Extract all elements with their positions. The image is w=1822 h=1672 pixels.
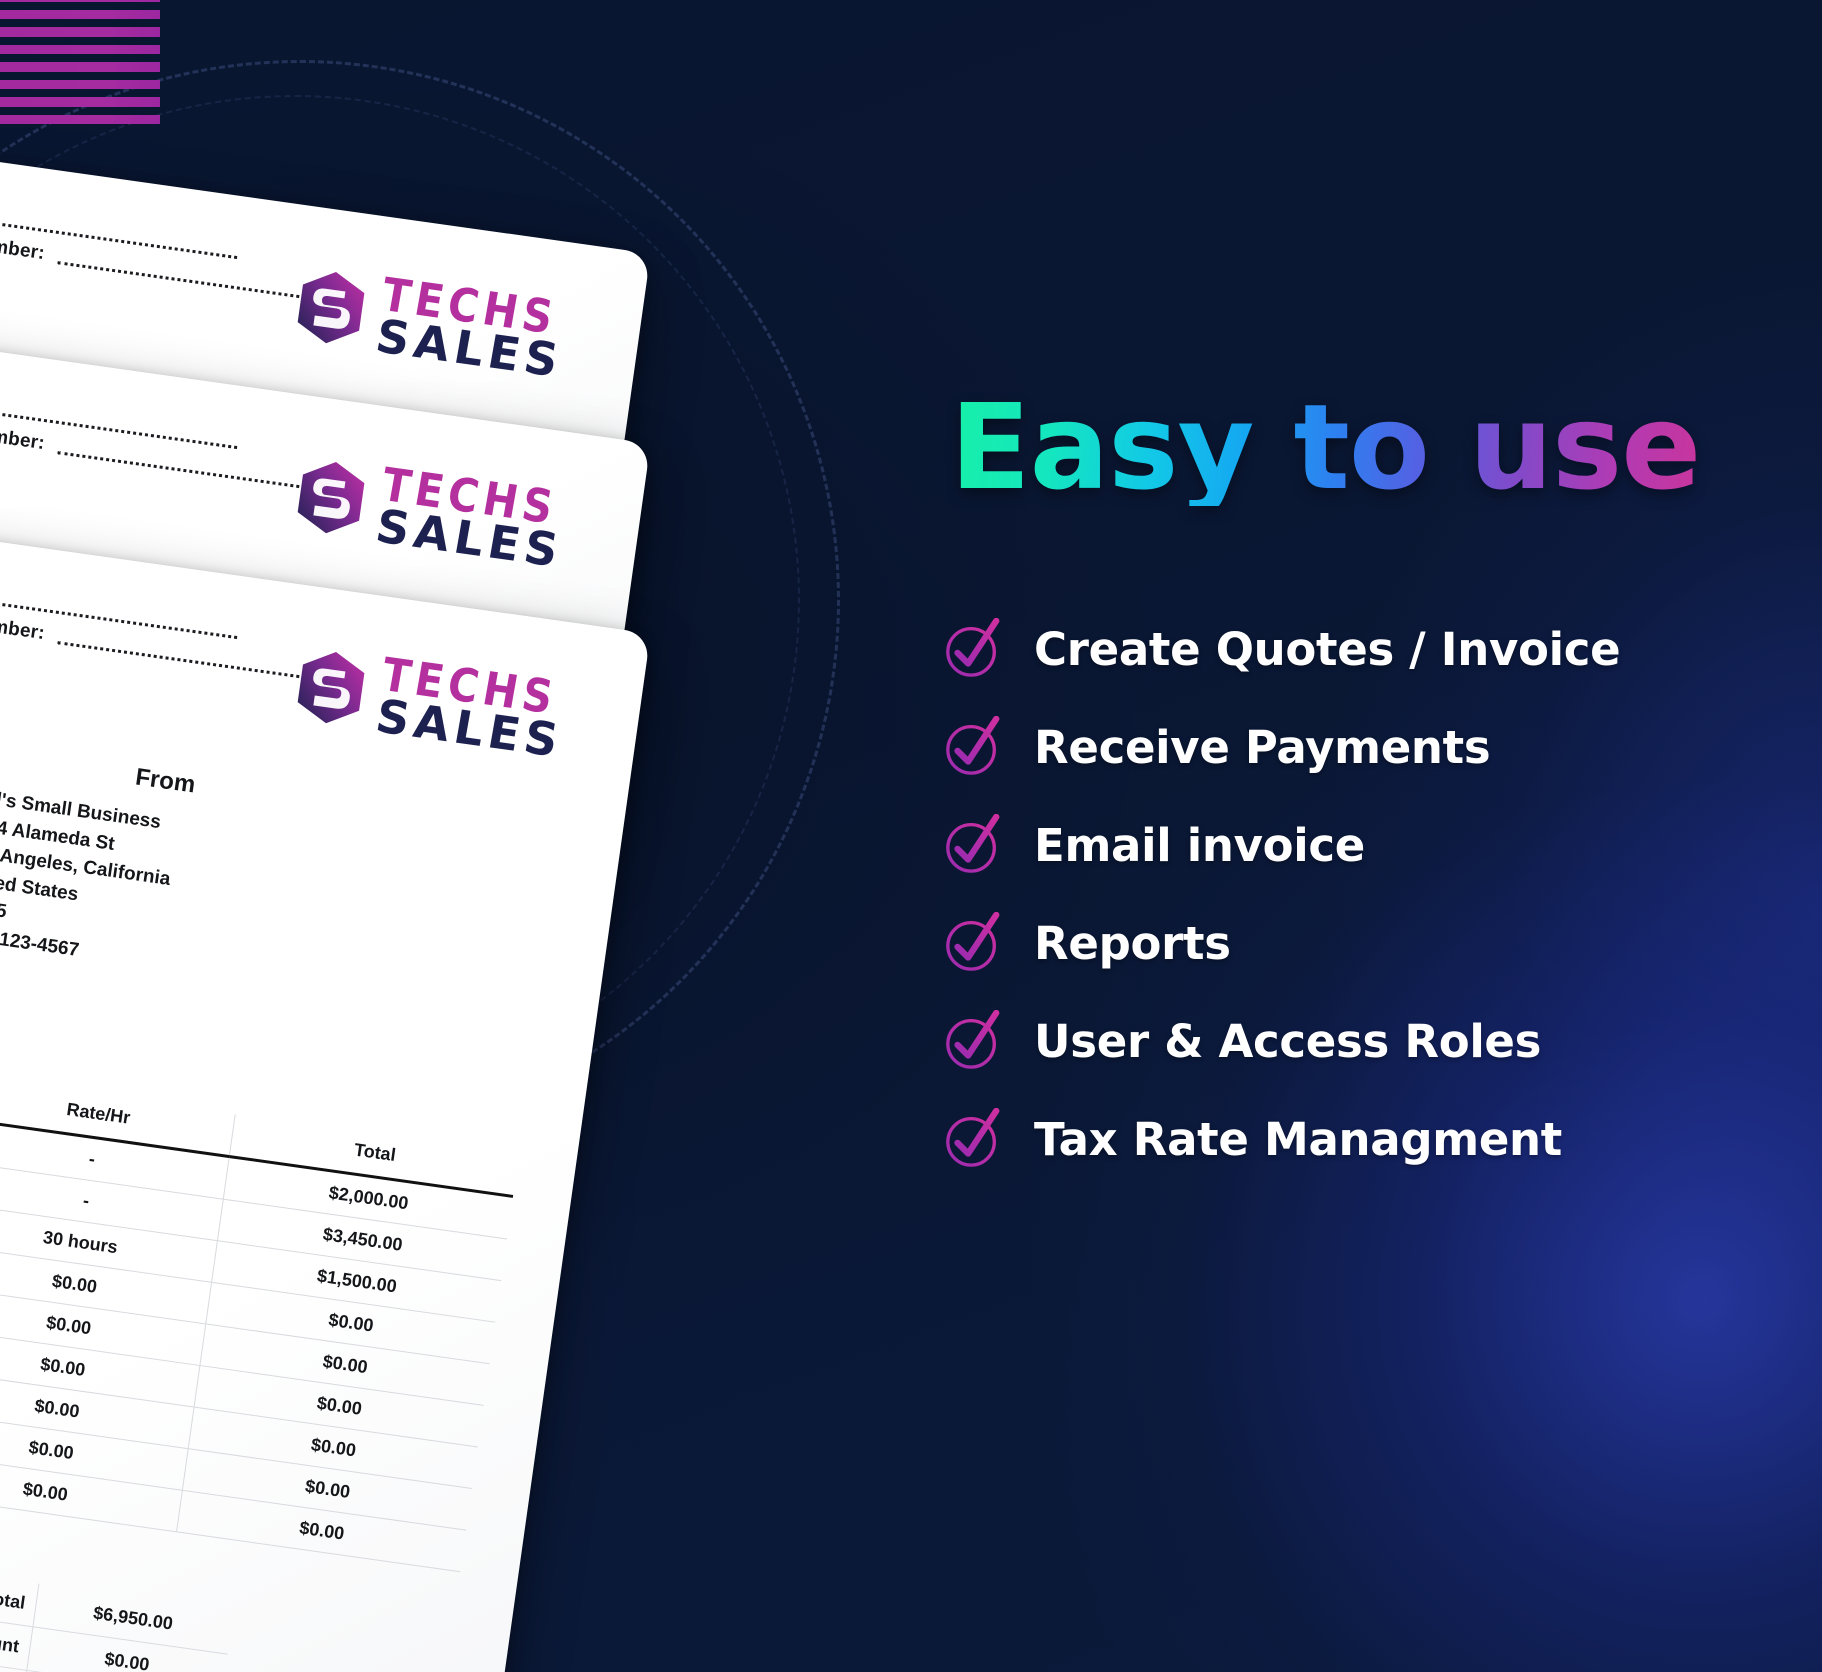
check-circle-icon xyxy=(942,1108,1004,1170)
line-items-table: Unit CostRate/HrTotal $2,000.00-$2,000.0… xyxy=(0,1037,519,1572)
invoice-card-front: Date: Invoice Number: Bill To Chrysler 1… xyxy=(0,500,651,1672)
check-circle-icon xyxy=(942,814,1004,876)
page-title: Easy to use xyxy=(950,388,1700,506)
feature-label: Reports xyxy=(1034,917,1231,970)
feature-label: User & Access Roles xyxy=(1034,1015,1541,1068)
feature-item: Create Quotes / Invoice xyxy=(942,600,1822,698)
feature-item: Reports xyxy=(942,894,1822,992)
feature-item: User & Access Roles xyxy=(942,992,1822,1090)
check-circle-icon xyxy=(942,716,1004,778)
techs-sales-hex-logo-icon xyxy=(291,266,371,351)
summary-table: Subtotal$6,950.00Discount$0.00Subtotal (… xyxy=(0,1533,233,1672)
feature-label: Tax Rate Managment xyxy=(1034,1113,1562,1166)
stripe-decoration xyxy=(0,0,160,132)
techs-sales-hex-logo-icon xyxy=(291,456,371,541)
check-circle-icon xyxy=(942,912,1004,974)
feature-label: Email invoice xyxy=(1034,819,1365,872)
feature-item: Email invoice xyxy=(942,796,1822,894)
feature-list: Create Quotes / Invoice Receive Payments… xyxy=(942,600,1822,1188)
invoice-card-stack: Date: Invoice Number: Bill To Chrysler 1… xyxy=(0,0,760,1672)
feature-item: Tax Rate Managment xyxy=(942,1090,1822,1188)
check-circle-icon xyxy=(942,1010,1004,1072)
summary-label: Subtotal xyxy=(0,1533,38,1626)
promo-banner: Date: Invoice Number: Bill To Chrysler 1… xyxy=(0,0,1822,1672)
feature-item: Receive Payments xyxy=(942,698,1822,796)
check-circle-icon xyxy=(942,618,1004,680)
techs-sales-hex-logo-icon xyxy=(291,646,371,731)
feature-label: Receive Payments xyxy=(1034,721,1490,774)
feature-label: Create Quotes / Invoice xyxy=(1034,623,1620,676)
marketing-copy-panel: Easy to use Create Quotes / Invoice Rece… xyxy=(950,0,1822,1672)
